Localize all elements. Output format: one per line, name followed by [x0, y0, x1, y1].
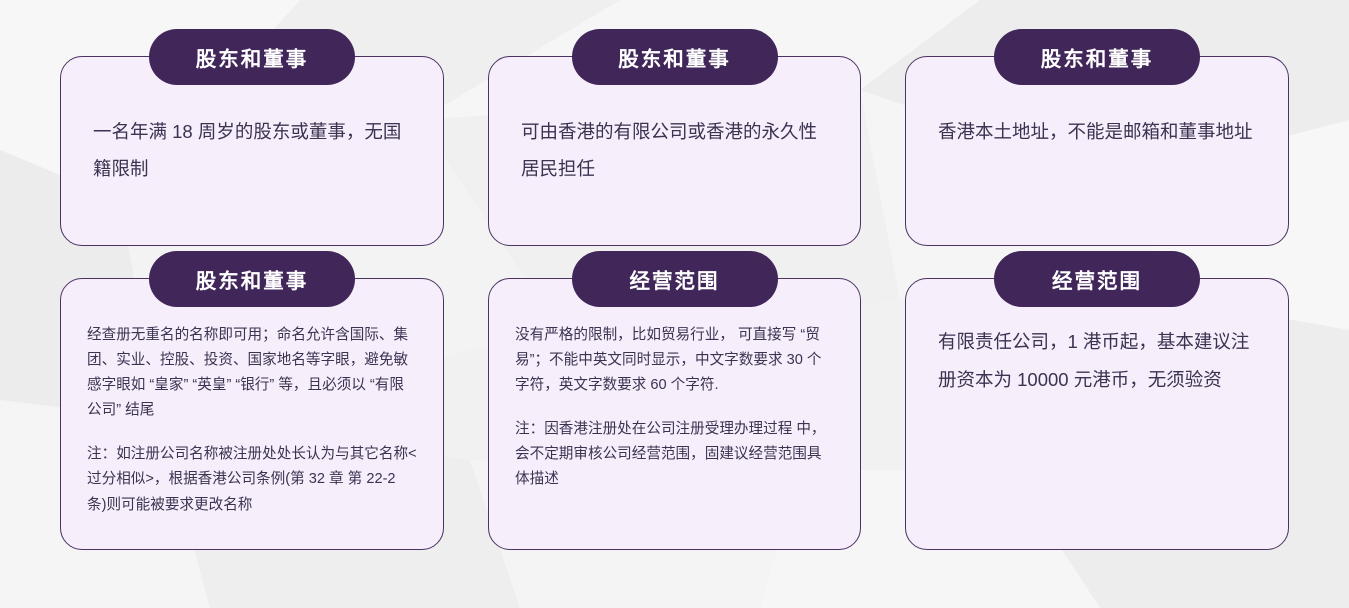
card-paragraph: 可由香港的有限公司或香港的永久性居民担任: [515, 113, 834, 187]
card-shareholder-director-eligibility: 股东和董事 可由香港的有限公司或香港的永久性居民担任: [488, 56, 861, 246]
card-business-scope-rules: 经营范围 没有严格的限制，比如贸易行业， 可直接写 “贸易”；不能中英文同时显示…: [488, 278, 861, 550]
card-paragraph: 有限责任公司，1 港币起，基本建议注册资本为 10000 元港币，无须验资: [932, 323, 1262, 399]
card-paragraph: 香港本土地址，不能是邮箱和董事地址: [932, 113, 1262, 150]
card-shareholder-director-address: 股东和董事 香港本土地址，不能是邮箱和董事地址: [905, 56, 1289, 246]
card-body: 没有严格的限制，比如贸易行业， 可直接写 “贸易”；不能中英文同时显示，中文字数…: [515, 323, 834, 493]
card-body: 香港本土地址，不能是邮箱和董事地址: [932, 113, 1262, 150]
card-body: 有限责任公司，1 港币起，基本建议注册资本为 10000 元港币，无须验资: [932, 323, 1262, 399]
card-registered-capital: 经营范围 有限责任公司，1 港币起，基本建议注册资本为 10000 元港币，无须…: [905, 278, 1289, 550]
card-badge: 经营范围: [994, 251, 1200, 307]
card-body: 经查册无重名的名称即可用；命名允许含国际、集团、实业、控股、投资、国家地名等字眼…: [87, 323, 417, 518]
card-shareholder-director-age: 股东和董事 一名年满 18 周岁的股东或董事，无国籍限制: [60, 56, 444, 246]
card-badge: 股东和董事: [572, 29, 778, 85]
card-body: 一名年满 18 周岁的股东或董事，无国籍限制: [87, 113, 417, 187]
card-badge: 股东和董事: [149, 29, 355, 85]
card-badge: 经营范围: [572, 251, 778, 307]
card-paragraph: 没有严格的限制，比如贸易行业， 可直接写 “贸易”；不能中英文同时显示，中文字数…: [515, 323, 834, 398]
card-badge: 股东和董事: [994, 29, 1200, 85]
requirements-card-grid: 股东和董事 一名年满 18 周岁的股东或董事，无国籍限制 股东和董事 可由香港的…: [0, 0, 1349, 608]
card-company-name-rules: 股东和董事 经查册无重名的名称即可用；命名允许含国际、集团、实业、控股、投资、国…: [60, 278, 444, 550]
card-paragraph: 一名年满 18 周岁的股东或董事，无国籍限制: [87, 113, 417, 187]
card-badge: 股东和董事: [149, 251, 355, 307]
card-note: 注：因香港注册处在公司注册受理办理过程 中，会不定期审核公司经营范围，固建议经营…: [515, 417, 834, 492]
card-paragraph: 经查册无重名的名称即可用；命名允许含国际、集团、实业、控股、投资、国家地名等字眼…: [87, 323, 417, 423]
card-body: 可由香港的有限公司或香港的永久性居民担任: [515, 113, 834, 187]
card-note: 注：如注册公司名称被注册处处长认为与其它名称<过分相似>，根据香港公司条例(第 …: [87, 442, 417, 517]
